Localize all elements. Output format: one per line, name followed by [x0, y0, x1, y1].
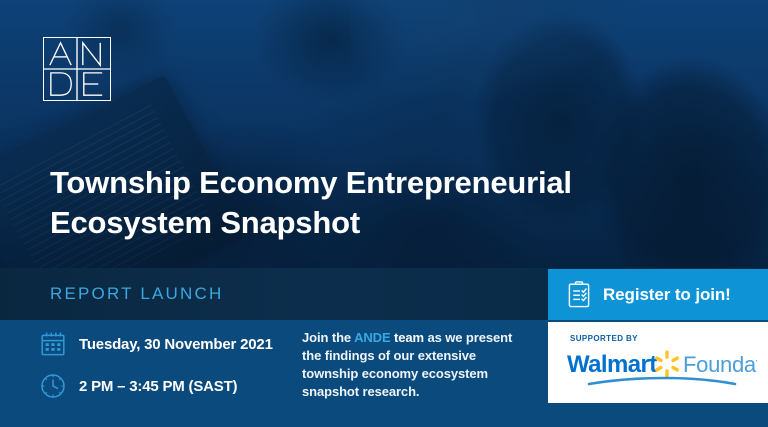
event-meta-list: Tuesday, 30 November 2021	[40, 327, 300, 411]
walmart-spark-icon	[654, 351, 679, 378]
blurb-ande-highlight: ANDE	[354, 330, 390, 345]
event-time-text: 2 PM – 3:45 PM (SAST)	[79, 378, 237, 395]
poster-title: Township Economy Entrepreneurial Ecosyst…	[50, 163, 710, 244]
event-time-row: 2 PM – 3:45 PM (SAST)	[40, 369, 300, 403]
register-button-label: Register to join!	[603, 285, 731, 305]
blurb-team-bold: team	[391, 330, 424, 345]
sponsor-card: SUPPORTED BY Walmart	[548, 322, 768, 403]
event-date-row: Tuesday, 30 November 2021	[40, 327, 300, 361]
walmart-foundation-logo: Walmart	[567, 348, 757, 392]
title-line-1: Township Economy Entrepreneurial	[50, 165, 572, 200]
register-to-join-button[interactable]: Register to join!	[548, 269, 768, 320]
hero-photo-section: Township Economy Entrepreneurial Ecosyst…	[0, 0, 768, 268]
title-line-2: Ecosystem Snapshot	[50, 203, 710, 243]
clipboard-checklist-icon	[568, 281, 590, 308]
clock-icon	[40, 373, 66, 399]
event-date-text: Tuesday, 30 November 2021	[79, 336, 273, 353]
event-description: Join the ANDE team as we present the fin…	[302, 329, 527, 401]
svg-text:Foundation: Foundation	[683, 352, 757, 377]
eyebrow-report-launch: REPORT LAUNCH	[50, 284, 223, 304]
ande-logo	[43, 37, 111, 101]
calendar-icon	[40, 331, 66, 357]
event-promo-poster: Township Economy Entrepreneurial Ecosyst…	[0, 0, 768, 427]
supported-by-label: SUPPORTED BY	[570, 334, 638, 343]
svg-text:Walmart: Walmart	[567, 351, 657, 378]
blurb-part-1: Join the	[302, 330, 354, 345]
